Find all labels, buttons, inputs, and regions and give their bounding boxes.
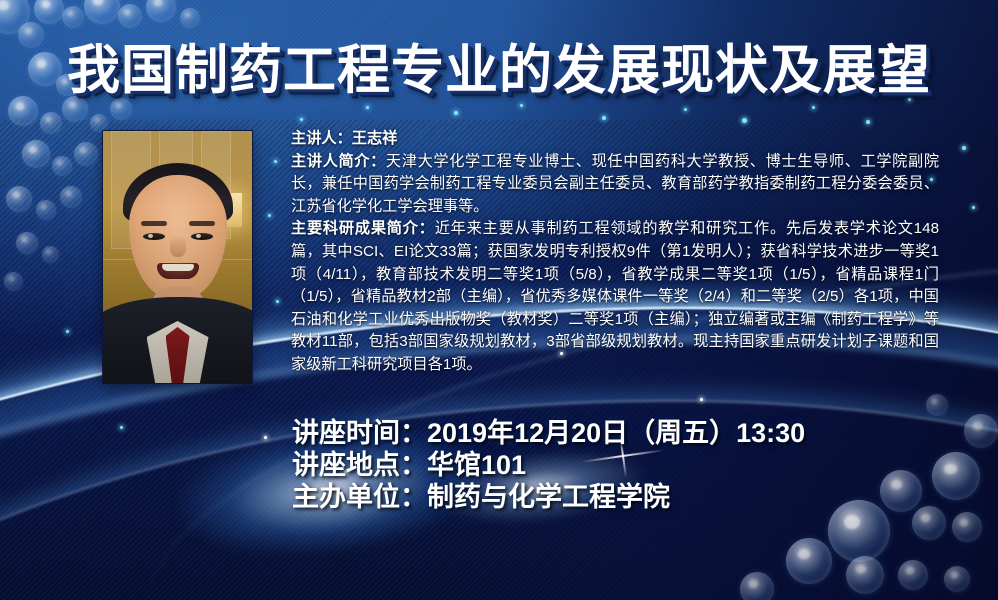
sparkle-dot: [742, 118, 747, 123]
bubble-decoration: [898, 560, 928, 590]
bubble-decoration: [828, 500, 890, 562]
sparkle-dot: [602, 116, 606, 120]
sparkle-dot: [700, 398, 703, 401]
event-time-label: 讲座时间：: [292, 418, 427, 448]
event-location-row: 讲座地点：华馆101: [292, 449, 805, 481]
avatar: [103, 131, 252, 383]
bubble-decoration: [16, 232, 38, 254]
research-label: 主要科研成果简介：: [291, 220, 435, 237]
sparkle-dot: [972, 206, 975, 209]
bubble-decoration: [740, 572, 774, 600]
sparkle-dot: [866, 120, 870, 124]
bubble-decoration: [912, 506, 946, 540]
speaker-intro-text: 天津大学化学工程专业博士、现任中国药科大学教授、博士生导师、工学院副院长，兼任中…: [291, 153, 939, 215]
speaker-name-label: 主讲人：王志祥: [291, 130, 397, 147]
event-organizer-row: 主办单位：制药与化学工程学院: [292, 481, 805, 513]
event-details: 讲座时间：2019年12月20日（周五）13:30 讲座地点：华馆101 主办单…: [292, 417, 805, 513]
seminar-poster: 我国制药工程专业的发展现状及展望 主讲人：王志祥 主讲人简介: [0, 0, 998, 600]
bubble-decoration: [180, 8, 200, 28]
bubble-decoration: [6, 186, 32, 212]
bubble-decoration: [90, 114, 108, 132]
bubble-decoration: [952, 512, 982, 542]
event-location-value: 华馆101: [427, 450, 526, 480]
bubble-decoration: [786, 538, 832, 584]
event-time-row: 讲座时间：2019年12月20日（周五）13:30: [292, 417, 805, 449]
sparkle-dot: [268, 214, 271, 217]
sparkle-dot: [454, 111, 458, 115]
bubble-decoration: [110, 98, 132, 120]
research-paragraph: 主要科研成果简介：近年来主要从事制药工程领域的教学和研究工作。先后发表学术论文1…: [291, 218, 939, 376]
sparkle-dot: [366, 106, 369, 109]
event-location-label: 讲座地点：: [292, 450, 427, 480]
event-time-value: 2019年12月20日（周五）13:30: [427, 418, 805, 448]
speaker-bio-block: 主讲人：王志祥 主讲人简介：天津大学化学工程专业博士、现任中国药科大学教授、博士…: [291, 128, 939, 377]
bubble-decoration: [880, 470, 922, 512]
sparkle-dot: [300, 118, 303, 121]
sparkle-dot: [276, 300, 279, 303]
page-title: 我国制药工程专业的发展现状及展望: [0, 42, 998, 100]
bubble-decoration: [52, 156, 72, 176]
bubble-decoration: [932, 452, 980, 500]
speaker-intro-paragraph: 主讲人简介：天津大学化学工程专业博士、现任中国药科大学教授、博士生导师、工学院副…: [291, 151, 939, 219]
bubble-decoration: [22, 140, 50, 168]
sparkle-dot: [120, 426, 123, 429]
sparkle-dot: [66, 330, 69, 333]
bubble-decoration: [964, 414, 998, 448]
sparkle-dot: [520, 104, 523, 107]
bubble-decoration: [4, 272, 23, 291]
sparkle-dot: [274, 160, 277, 163]
sparkle-dot: [812, 106, 815, 109]
event-organizer-label: 主办单位：: [292, 482, 427, 512]
bubble-decoration: [36, 200, 56, 220]
bubble-decoration: [926, 394, 948, 416]
portrait-shading: [103, 131, 252, 383]
bubble-decoration: [846, 556, 884, 594]
bubble-decoration: [944, 566, 970, 592]
speaker-intro-label: 主讲人简介：: [291, 153, 386, 170]
sparkle-dot: [264, 436, 267, 439]
bubble-decoration: [118, 4, 142, 28]
bubble-decoration: [8, 96, 38, 126]
speaker-name-line: 主讲人：王志祥: [291, 128, 939, 151]
research-text: 近年来主要从事制药工程领域的教学和研究工作。先后发表学术论文148篇，其中SCI…: [291, 220, 939, 373]
sparkle-dot: [962, 146, 966, 150]
bubble-decoration: [60, 186, 82, 208]
sparkle-dot: [684, 108, 687, 111]
event-organizer-value: 制药与化学工程学院: [427, 482, 670, 512]
bubble-decoration: [42, 246, 59, 263]
bubble-decoration: [40, 112, 62, 134]
bubble-decoration: [74, 142, 98, 166]
bubble-decoration: [62, 6, 84, 28]
